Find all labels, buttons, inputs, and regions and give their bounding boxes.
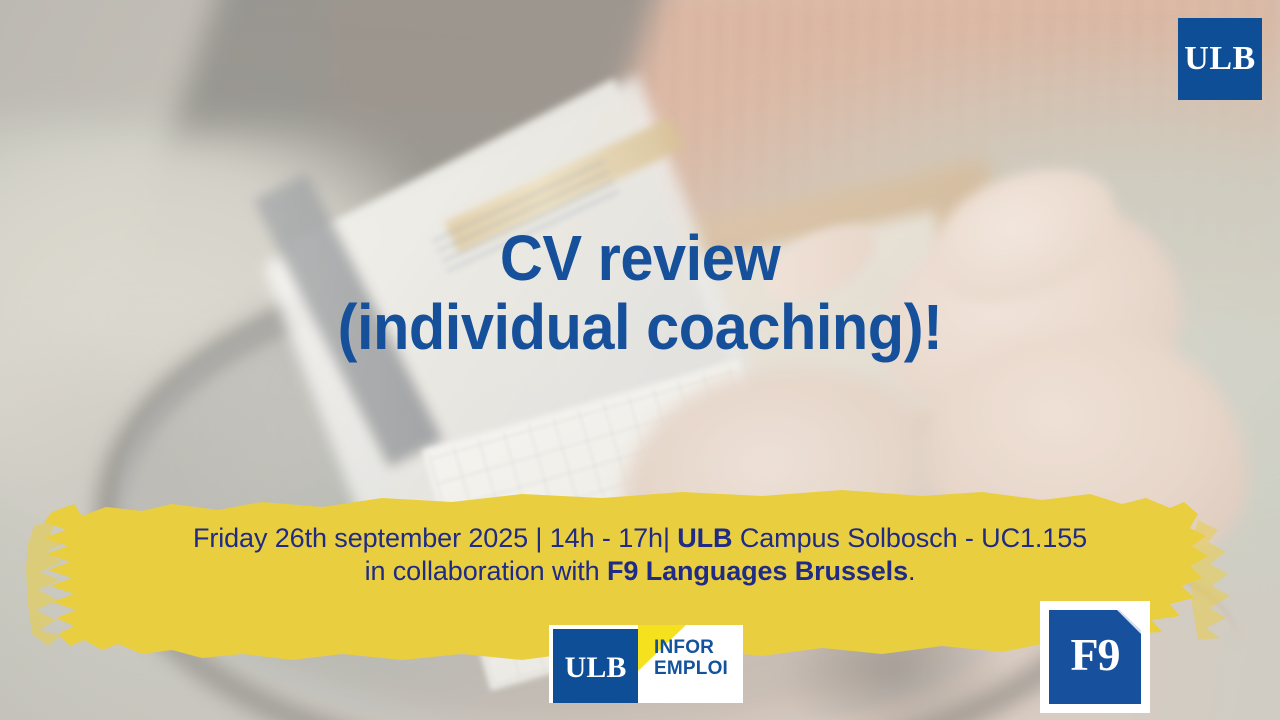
- event-details-line-1: Friday 26th september 2025 | 14h - 17h| …: [0, 522, 1280, 555]
- event-datetime: Friday 26th september 2025 | 14h - 17h|: [193, 523, 677, 553]
- ulb-logo-text: ULB: [1184, 42, 1255, 76]
- event-details: Friday 26th september 2025 | 14h - 17h| …: [0, 522, 1280, 588]
- f9-folded-corner-icon: [1117, 610, 1141, 634]
- infor-ulb-square: ULB: [553, 629, 638, 703]
- title-line-1: CV review: [500, 222, 780, 294]
- infor-line-2: EMPLOI: [654, 658, 728, 679]
- ulb-logo: ULB: [1178, 18, 1262, 100]
- collaboration-partner: F9 Languages Brussels: [607, 556, 908, 586]
- collaboration-prefix: in collaboration with: [365, 556, 607, 586]
- f9-logo-text: F9: [1070, 632, 1119, 682]
- f9-logo-square: F9: [1049, 610, 1141, 704]
- infor-ulb-text: ULB: [565, 651, 627, 685]
- page-title: CV review (individual coaching)!: [45, 224, 1235, 362]
- ulb-infor-emploi-logo: ULB INFOR EMPLOI: [549, 625, 743, 703]
- event-venue-brand: ULB: [677, 523, 732, 553]
- infor-emploi-text: INFOR EMPLOI: [654, 637, 728, 680]
- event-venue: Campus Solbosch - UC1.155: [732, 523, 1087, 553]
- poster-canvas: ULB CV review (individual coaching)! Fri…: [0, 0, 1280, 720]
- event-details-line-2: in collaboration with F9 Languages Bruss…: [0, 555, 1280, 588]
- collaboration-suffix: .: [908, 556, 915, 586]
- infor-line-1: INFOR: [654, 637, 728, 658]
- f9-logo: F9: [1040, 601, 1150, 713]
- title-line-2: (individual coaching)!: [45, 293, 1235, 362]
- infor-panel: INFOR EMPLOI: [638, 625, 743, 703]
